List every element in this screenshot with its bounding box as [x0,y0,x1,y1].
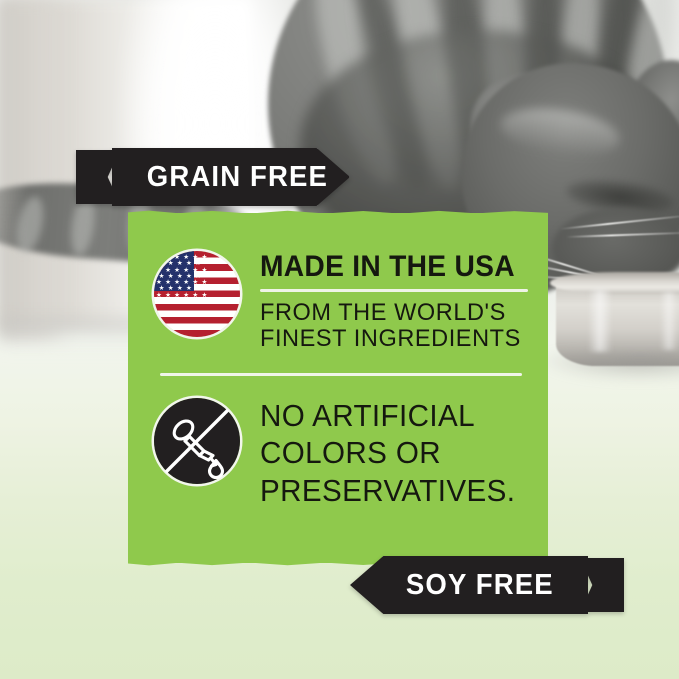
bowl-shadow [540,352,679,382]
promo-graphic: ★ ★ ★ ★ ★ ★ ★ ★ ★ ★ ★ ★ ★ ★ ★ ★ ★ ★ ★ ★ … [0,0,679,679]
wall-shadow [0,0,72,340]
no-artificial-line-3: PRESERVATIVES. [260,473,518,511]
usa-subline-2: FINEST INGREDIENTS [260,326,515,352]
dropper-glyph [154,398,240,484]
usa-subline-1: FROM THE WORLD'S [260,300,515,326]
panel-section-divider [160,373,522,376]
food-bowl-rim [550,272,679,294]
grain-free-label: GRAIN FREE [147,161,328,194]
ribbon-body: GRAIN FREE [112,148,350,206]
usa-headline: MADE IN THE USA [260,251,510,282]
feature-no-artificial: NO ARTIFICIAL COLORS OR PRESERVATIVES. [154,376,526,511]
soy-free-ribbon: SOY FREE [350,556,624,614]
feature-made-in-usa: ★ ★ ★ ★ ★ ★ ★ ★ ★ ★ ★ ★ ★ ★ ★ ★ ★ ★ ★ ★ … [154,239,526,353]
usa-underline-rule [260,289,528,292]
flag-stars: ★ ★ ★ ★ ★ ★ ★ ★ ★ ★ ★ ★ ★ ★ ★ ★ ★ ★ ★ ★ … [154,251,240,337]
feature-panel: ★ ★ ★ ★ ★ ★ ★ ★ ★ ★ ★ ★ ★ ★ ★ ★ ★ ★ ★ ★ … [128,213,548,563]
no-artificial-dropper-icon [154,398,240,484]
usa-flag-icon: ★ ★ ★ ★ ★ ★ ★ ★ ★ ★ ★ ★ ★ ★ ★ ★ ★ ★ ★ ★ … [154,251,240,337]
no-artificial-line-2: COLORS OR [260,435,518,473]
bowl-highlight [588,290,612,352]
soy-free-label: SOY FREE [406,569,554,602]
grain-free-ribbon: GRAIN FREE [76,148,350,206]
no-artificial-line-1: NO ARTIFICIAL [260,398,518,436]
bowl-highlight [660,292,678,350]
ribbon-body: SOY FREE [350,556,588,614]
